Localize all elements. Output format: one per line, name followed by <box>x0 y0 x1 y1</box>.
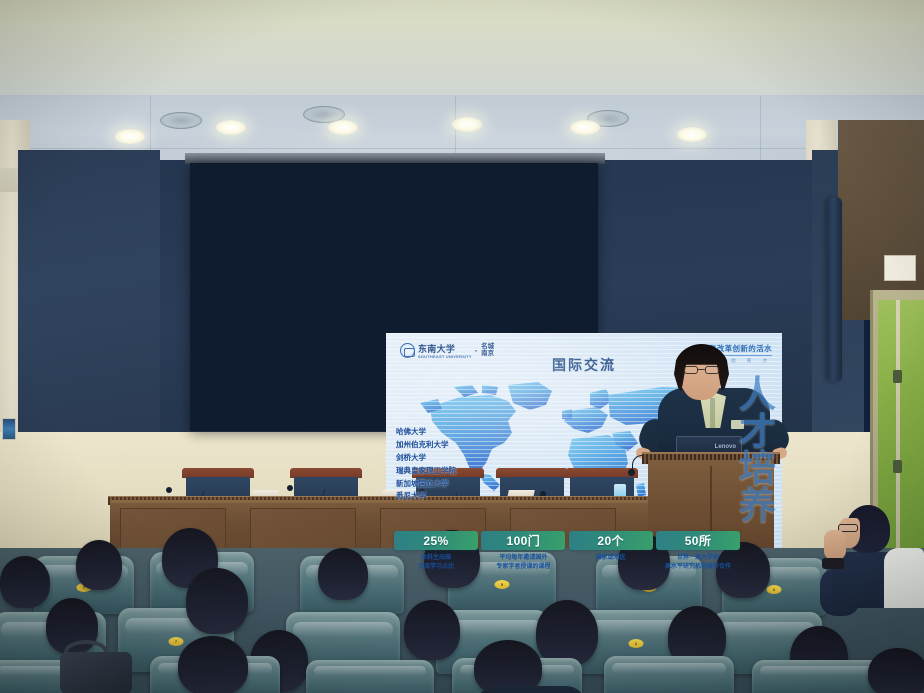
wall-panel-navy-left <box>18 150 160 432</box>
speaker-glasses-icon <box>684 366 719 374</box>
column-speaker-icon <box>827 197 842 382</box>
speaker-collar-stripe <box>710 398 715 428</box>
stat-desc-line2: 高水平研究机构展开合作 <box>665 564 731 570</box>
audience-seat[interactable] <box>752 660 882 693</box>
audience-head <box>186 568 248 634</box>
glasses-lens-left <box>684 366 698 374</box>
stat-desc-line2: 交流学习占比 <box>418 564 454 570</box>
ceiling-seam <box>0 148 924 149</box>
door-sign <box>884 255 916 281</box>
stat-description: 本科生出国 交流学习占比 <box>394 554 478 572</box>
stat-desc-line1: 平均每年邀请国外 <box>499 555 547 561</box>
ceiling-downlight-icon <box>216 120 246 135</box>
ceiling-downlight-icon <box>677 127 707 142</box>
stat-value-box: 100门 <box>481 531 565 550</box>
stat-desc-line1: 世界一流大学和 <box>677 555 719 561</box>
stat-description: 平均每年邀请国外 专家学者授课的课程 <box>481 554 565 572</box>
stat-value: 50所 <box>685 532 712 549</box>
podium-microphone-head <box>628 469 635 476</box>
stat-value-box: 20个 <box>569 531 653 550</box>
stat-description: 世界一流大学和 高水平研究机构展开合作 <box>656 554 740 572</box>
stat-card: 20个 国家或地区 <box>569 531 653 572</box>
vertical-title-char: 才 <box>739 414 776 449</box>
glasses-lens-right <box>705 366 719 374</box>
university-list: 哈佛大学 加州伯克利大学 剑桥大学 瑞典皇家理工学院 新加坡国立大学 悉尼大学 <box>396 426 456 503</box>
attendee-wristwatch <box>822 558 844 569</box>
stat-desc-line1: 国家或地区 <box>596 555 626 561</box>
audience-seat[interactable] <box>306 660 434 693</box>
ceiling-downlight-icon <box>328 120 358 135</box>
list-item: 瑞典皇家理工学院 <box>396 465 456 478</box>
seat-number-label: 2 <box>629 639 644 648</box>
ceiling-downlight-icon <box>570 120 600 135</box>
stat-card: 25% 本科生出国 交流学习占比 <box>394 531 478 572</box>
vertical-title-char: 养 <box>739 488 776 523</box>
door-hinge-icon <box>893 460 902 473</box>
stat-description: 国家或地区 <box>569 554 653 563</box>
ceiling-vent-icon <box>160 112 202 129</box>
stat-value-box: 50所 <box>656 531 740 550</box>
room-control-panel[interactable] <box>2 418 16 440</box>
list-item: 剑桥大学 <box>396 452 456 465</box>
stat-value: 100门 <box>507 532 541 549</box>
list-item: 哈佛大学 <box>396 426 456 439</box>
statistics-row: 25% 本科生出国 交流学习占比 100门 平均每年邀请国外 专家学者授课的课程 <box>394 531 740 572</box>
list-item: 新加坡国立大学 <box>396 478 456 491</box>
audience-head <box>76 540 122 590</box>
audience-head <box>536 600 598 666</box>
audience-head <box>0 556 50 608</box>
stat-desc-line2: 专家学者授课的课程 <box>496 564 550 570</box>
slide-vertical-title: 人 才 培 养 <box>739 377 776 524</box>
vertical-title-char: 人 <box>739 377 776 412</box>
stat-value-box: 25% <box>394 531 478 550</box>
door-glass-panel[interactable] <box>878 300 924 550</box>
vertical-title-char: 培 <box>739 451 776 486</box>
door-mullion <box>896 300 900 550</box>
seat-number-label: 5 <box>495 580 510 589</box>
attendee-hand <box>824 530 846 560</box>
audience-shoulders <box>476 686 586 693</box>
ceiling-seam <box>760 96 761 168</box>
stat-desc-line1: 本科生出国 <box>421 555 451 561</box>
laptop-brand-label: Lenovo <box>715 444 736 450</box>
audience-head <box>404 600 460 660</box>
slide-logo-separator: · <box>475 346 478 356</box>
ceiling-downlight-icon <box>115 129 145 144</box>
stat-value: 25% <box>423 534 448 548</box>
door-hinge-icon <box>893 370 902 383</box>
seat-number-label: 2 <box>767 585 782 594</box>
stat-card: 100门 平均每年邀请国外 专家学者授课的课程 <box>481 531 565 572</box>
stat-value: 20个 <box>597 532 624 549</box>
audience-seat[interactable] <box>604 656 734 693</box>
stat-card: 50所 世界一流大学和 高水平研究机构展开合作 <box>656 531 740 572</box>
audience-head <box>868 648 924 693</box>
seat-number-label: 7 <box>169 637 184 646</box>
attendee-shirt <box>884 548 924 608</box>
slide-logo-university: 东南大学 <box>418 344 455 354</box>
backpack <box>60 652 132 693</box>
projection-screen: 东南大学 SOUTHEAST UNIVERSITY · 名城 南京 国际交流 汇… <box>190 163 598 431</box>
ceiling-downlight-icon <box>452 117 482 132</box>
list-item: 加州伯克利大学 <box>396 439 456 452</box>
audience-head <box>318 548 368 600</box>
lecture-hall-scene: 东南大学 SOUTHEAST UNIVERSITY · 名城 南京 国际交流 汇… <box>0 0 924 693</box>
list-item: 悉尼大学 <box>396 490 456 503</box>
glasses-bridge <box>698 369 705 370</box>
audience-head <box>178 636 248 693</box>
